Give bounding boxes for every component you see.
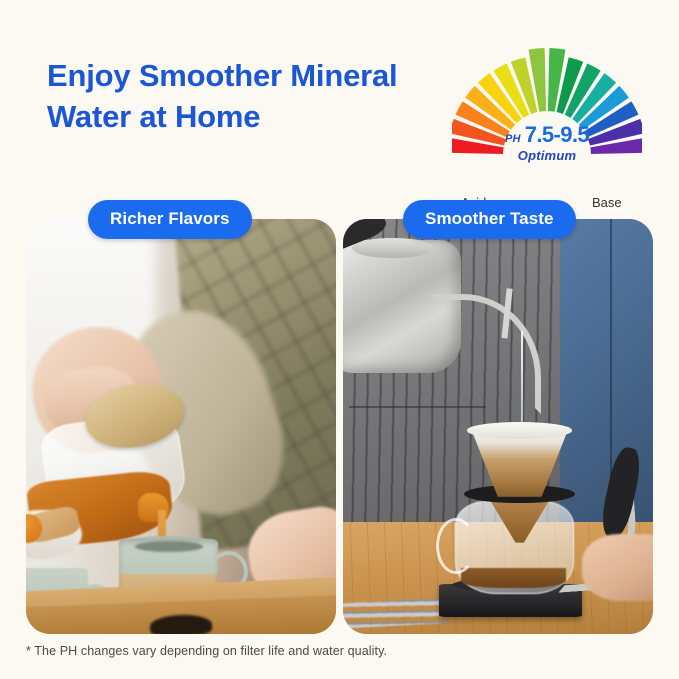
photo-richer-flavors [26,219,336,634]
brewed-coffee [461,568,566,589]
ph-gauge-readout: PH 7.5-9.5 Optimum [488,124,606,168]
ph-label: PH [505,134,521,145]
water-stream [521,331,523,422]
mug-interior [135,541,203,552]
ph-scale-gauge: PH 7.5-9.5 Optimum Acid Base [452,40,642,180]
server-handle [436,518,476,574]
photo-pair [26,219,653,634]
badge-richer-flavors[interactable]: Richer Flavors [88,200,252,239]
ph-optimum-label: Optimum [488,148,606,163]
promo-page: Enjoy Smoother Mineral Water at Home PH … [0,0,679,679]
header: Enjoy Smoother Mineral Water at Home PH … [0,0,679,190]
footnote-text: * The PH changes vary depending on filte… [26,644,387,658]
ph-range-value: 7.5-9.5 [525,124,589,146]
ph-base-label: Base [592,195,622,210]
page-title-line-2: Water at Home [47,96,447,137]
dripper-rim [467,422,572,439]
barista-hand [582,534,653,600]
photo-smoother-taste [343,219,653,634]
page-title-line-1: Enjoy Smoother Mineral [47,55,447,96]
badge-smoother-taste[interactable]: Smoother Taste [403,200,576,239]
page-title: Enjoy Smoother Mineral Water at Home [47,55,447,137]
